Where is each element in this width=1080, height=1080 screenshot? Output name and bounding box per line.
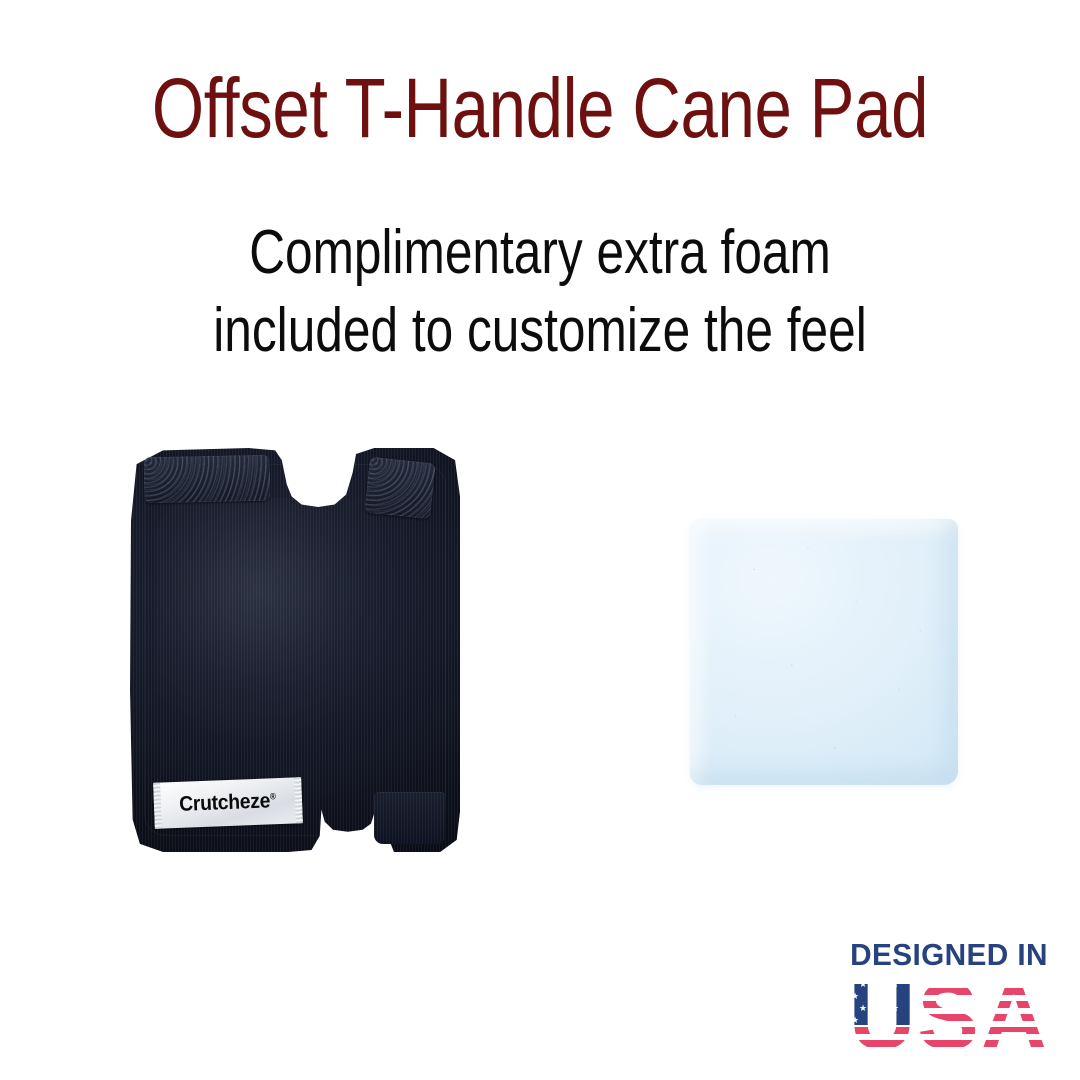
registered-trademark-icon: ®: [270, 791, 276, 801]
brand-label-tag: Crutcheze®: [153, 777, 303, 829]
foam-texture: [690, 519, 958, 785]
velcro-strip-right-icon: [364, 457, 435, 520]
usa-flag-wordmark-icon: ★★★★ ★★★ ★★★★ ★★★ USA: [838, 975, 1060, 1053]
subtitle-line-2: included to customize the feel: [108, 292, 972, 370]
product-image-canvas: Offset T-Handle Cane Pad Complimentary e…: [0, 0, 1080, 1080]
page-title: Offset T-Handle Cane Pad: [108, 62, 972, 154]
brand-label-text: Crutcheze®: [179, 789, 277, 817]
designed-in-usa-badge: DESIGNED IN: [838, 938, 1060, 1056]
cane-pad-bottom-tab: [374, 792, 446, 844]
cane-pad-product-photo: Crutcheze®: [122, 440, 472, 860]
subtitle: Complimentary extra foam included to cus…: [108, 214, 972, 370]
subtitle-line-1: Complimentary extra foam: [108, 214, 972, 292]
extra-foam-insert: [690, 519, 958, 785]
velcro-strip-left-icon: [144, 455, 271, 504]
designed-in-label: DESIGNED IN: [842, 938, 1055, 972]
brand-name: Crutcheze: [179, 789, 271, 815]
